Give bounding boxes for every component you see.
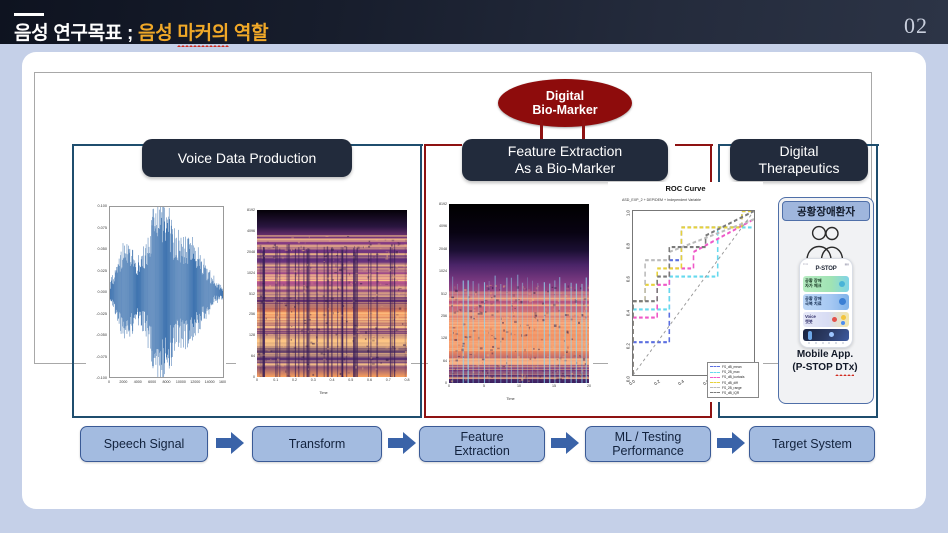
- spectrogram2-y-axis-tick: 2048: [439, 247, 447, 251]
- spectrogram2-y-axis-tick: 1024: [439, 269, 447, 273]
- group-feature-top-left: [424, 144, 462, 147]
- roc-legend-swatch: [710, 387, 720, 388]
- waveform-y-tick: -0.050: [96, 333, 107, 337]
- spectrogram2-x-axis-tick: 20: [587, 384, 591, 388]
- roc-legend-swatch: [710, 377, 720, 378]
- spectrogram1-x-axis-tick: 0.6: [367, 378, 372, 382]
- page-number: 02: [904, 13, 928, 39]
- roc-legend-label: FS_dB_mean: [722, 365, 742, 369]
- spectrogram1-y-axis-tick: 128: [249, 333, 255, 337]
- spectrogram1-y-axis-tick: 0: [253, 375, 255, 379]
- waveform-y-tick: 0.025: [97, 269, 107, 273]
- dtx-panel-title: 공황장애환자: [782, 201, 870, 221]
- roc-legend-label: FS_2B_range: [722, 386, 742, 390]
- label-digital-therapeutics: Digital Therapeutics: [730, 139, 868, 181]
- spectrogram1-x-axis-tick: 0.5: [348, 378, 353, 382]
- phone-home-indicator: [808, 342, 844, 344]
- waveform-x-tick: 14000: [205, 380, 215, 384]
- phone-card3-text: Voice 챗봇: [805, 314, 816, 325]
- label-feature-line-1: Feature Extraction: [508, 143, 622, 159]
- roc-legend: FS_dB_meanFS_2B_maxFS_dB_kurtosisFS_dB_d…: [707, 362, 759, 398]
- roc-legend-label: FS_dB_IQR: [722, 391, 739, 395]
- roc-y-tick: 0.6: [626, 276, 631, 282]
- flow-step-5-line1: Target System: [772, 437, 852, 451]
- spectrogram1-image: [257, 210, 407, 377]
- spectrogram2-y-axis-tick: 64: [443, 359, 447, 363]
- figure-roc-curve: ROC Curve ASD_EXP_2 + DEP/DEM + Independ…: [608, 182, 763, 402]
- spectrogram2-y-axis-tick: 4096: [439, 224, 447, 228]
- page-title-main: 음성 연구목표 ;: [14, 23, 138, 44]
- dtx-caption-line-2c: ): [854, 362, 857, 373]
- waveform-y-tick: 0.050: [97, 247, 107, 251]
- roc-x-tick: 0.0: [628, 379, 636, 387]
- phone-mockup: 9:41 ▮▮▮ P-STOP 공황 장애 자가 체크 공황 장애 극복 치료 …: [799, 258, 853, 348]
- roc-y-tick: 0.8: [626, 243, 631, 249]
- roc-y-tick: 0.2: [626, 343, 631, 349]
- flow-arrow-3-icon: [551, 431, 579, 455]
- waveform-x-tick: 12000: [190, 380, 200, 384]
- spectrogram1-y-axis-tick: 4096: [247, 229, 255, 233]
- roc-legend-label: FS_2B_max: [722, 370, 740, 374]
- roc-legend-label: FS_dB_kurtosis: [722, 375, 745, 379]
- spectrogram2-svg: [449, 204, 589, 383]
- spectrogram1-x-axis-tick: 0.4: [330, 378, 335, 382]
- phone-card3-dot-red: [832, 317, 837, 322]
- waveform-y-tick: -0.100: [96, 376, 107, 380]
- phone-card4-figure: [808, 331, 812, 340]
- spectrogram2-y-axis-tick: 0: [445, 381, 447, 385]
- label-voice-text: Voice Data Production: [178, 150, 317, 167]
- spectrogram2-x-title: Time: [428, 397, 593, 401]
- label-dtx-line-2: Therapeutics: [759, 160, 840, 176]
- spectrogram1-y-axis-tick: 256: [249, 312, 255, 316]
- phone-card-treatment[interactable]: 공황 장애 극복 치료: [803, 294, 849, 310]
- title-rule: [14, 13, 44, 16]
- waveform-svg: [110, 207, 223, 377]
- figure-waveform: 0.1000.0750.0500.0250.000-0.025-0.050-0.…: [86, 202, 226, 397]
- roc-legend-swatch: [710, 382, 720, 383]
- spectrogram2-x-axis-tick: 0: [448, 384, 450, 388]
- spectrogram2-y-axis-tick: 8192: [439, 202, 447, 206]
- phone-card4-glow: [829, 332, 834, 337]
- spectrogram2-y-axis-tick: 256: [441, 314, 447, 318]
- group-voice-top-left: [72, 144, 146, 147]
- flow-step-ml-testing[interactable]: ML / Testing Performance: [585, 426, 711, 462]
- label-dtx-line-1: Digital: [780, 143, 819, 159]
- spectrogram1-y-axis-tick: 64: [251, 354, 255, 358]
- spectrogram2-x-axis-tick: 10: [517, 384, 521, 388]
- phone-card-night[interactable]: [803, 329, 849, 341]
- spectrogram1-x-axis: 00.10.20.30.40.50.60.70.8: [257, 378, 407, 386]
- spectrogram1-x-axis-tick: 0.7: [386, 378, 391, 382]
- roc-legend-item: FS_dB_IQR: [710, 390, 756, 395]
- patient-couple-icon: [801, 224, 849, 260]
- spectrogram2-x-axis-tick: 15: [552, 384, 556, 388]
- phone-card2-dot: [839, 298, 846, 305]
- spectrogram1-x-title: Time: [236, 391, 411, 395]
- phone-card2-line2: 극복 치료: [805, 301, 822, 306]
- spectrogram1-x-axis-tick: 0.1: [273, 378, 278, 382]
- waveform-y-tick: -0.025: [96, 312, 107, 316]
- badge-line-1: Digital: [546, 89, 584, 103]
- flow-step-target-system[interactable]: Target System: [749, 426, 875, 462]
- roc-legend-swatch: [710, 372, 720, 373]
- waveform-x-axis: 0200040006000800010000120001400016000: [109, 380, 224, 388]
- spectrogram2-x-axis: 05101520: [449, 384, 589, 392]
- waveform-x-tick: 2000: [119, 380, 127, 384]
- roc-legend-swatch: [710, 392, 720, 393]
- roc-svg: [633, 211, 754, 375]
- flow-step-transform[interactable]: Transform: [252, 426, 382, 462]
- phone-card1-dot: [839, 281, 845, 287]
- flow-arrow-4-icon: [717, 431, 745, 455]
- slide-header: 음성 연구목표 ; 음성 마커의 역할 02: [0, 0, 948, 44]
- spectrogram1-x-axis-tick: 0: [256, 378, 258, 382]
- roc-x-tick: 0.2: [653, 379, 661, 387]
- phone-card-voice-chatbot[interactable]: Voice 챗봇: [803, 312, 849, 327]
- flow-step-feature-extraction[interactable]: Feature Extraction: [419, 426, 545, 462]
- page-title: 음성 연구목표 ; 음성 마커의 역할: [14, 18, 268, 45]
- page-title-accent-3: 역할: [229, 23, 268, 44]
- spectrogram2-y-axis-tick: 128: [441, 336, 447, 340]
- roc-legend-label: FS_dB_diff: [722, 381, 738, 385]
- waveform-y-tick: 0.075: [97, 226, 107, 230]
- phone-app-title: P-STOP: [800, 266, 852, 272]
- spectrogram2-image: [449, 204, 589, 383]
- roc-y-tick: 1.0: [626, 210, 631, 216]
- phone-card-self-check[interactable]: 공황 장애 자가 체크: [803, 276, 849, 292]
- slide-root: 음성 연구목표 ; 음성 마커의 역할 02 Digital Bio-Marke…: [0, 0, 948, 533]
- roc-subtitle: ASD_EXP_2 + DEP/DEM + Independent Variab…: [622, 198, 701, 202]
- phone-card1-text: 공황 장애 자가 체크: [805, 278, 822, 289]
- waveform-y-tick: -0.075: [96, 355, 107, 359]
- waveform-x-tick: 16000: [219, 380, 226, 384]
- label-voice-data-production: Voice Data Production: [142, 139, 352, 177]
- phone-card1-line2: 자가 체크: [805, 283, 822, 288]
- waveform-x-tick: 8000: [163, 380, 171, 384]
- roc-plot-area: [632, 210, 755, 376]
- badge-line-2: Bio-Marker: [532, 103, 597, 117]
- figure-spectrogram-2: 8192409620481024512256128640: [428, 196, 593, 403]
- flow-step-3-line1: Feature: [460, 430, 503, 444]
- spectrogram1-svg: [257, 210, 407, 377]
- spectrogram1-x-axis-tick: 0.3: [311, 378, 316, 382]
- page-title-accent-2: 마커의: [177, 18, 229, 45]
- flow-step-speech-signal[interactable]: Speech Signal: [80, 426, 208, 462]
- roc-legend-swatch: [710, 366, 720, 367]
- phone-card2-line1: 공황 장애: [805, 296, 822, 301]
- roc-y-axis: 0.00.20.40.60.81.0: [608, 210, 630, 376]
- flow-step-4-line2: Performance: [612, 444, 684, 458]
- label-feature-extraction: Feature Extraction As a Bio-Marker: [462, 139, 668, 181]
- phone-card2-text: 공황 장애 극복 치료: [805, 296, 822, 307]
- waveform-y-axis: 0.1000.0750.0500.0250.000-0.025-0.050-0.…: [86, 206, 108, 378]
- waveform-x-tick: 0: [108, 380, 110, 384]
- spectrogram1-y-axis-tick: 1024: [247, 271, 255, 275]
- phone-card1-line1: 공황 장애: [805, 278, 822, 283]
- roc-title: ROC Curve: [608, 184, 763, 193]
- flow-step-4-line1: ML / Testing: [615, 430, 682, 444]
- waveform-plot-area: [109, 206, 224, 378]
- dtx-caption-line-1: Mobile App.: [797, 349, 853, 360]
- flow-step-2-line1: Transform: [289, 437, 346, 451]
- spectrogram2-y-axis-tick: 512: [441, 292, 447, 296]
- group-feature-top-right: [675, 144, 713, 147]
- flow-step-3-line2: Extraction: [454, 444, 510, 458]
- spectrogram1-x-axis-tick: 0.2: [292, 378, 297, 382]
- spectrogram1-y-axis-tick: 8192: [247, 208, 255, 212]
- label-feature-line-2: As a Bio-Marker: [515, 160, 615, 176]
- flow-arrow-2-icon: [388, 431, 416, 455]
- waveform-x-tick: 10000: [176, 380, 186, 384]
- page-title-accent-1: 음성: [138, 23, 177, 44]
- waveform-y-tick: 0.000: [97, 290, 107, 294]
- waveform-x-tick: 6000: [148, 380, 156, 384]
- flow-step-1-line1: Speech Signal: [104, 437, 185, 451]
- spectrogram1-y-axis-tick: 512: [249, 292, 255, 296]
- spectrogram2-x-axis-tick: 5: [483, 384, 485, 388]
- group-voice-top-right: [349, 144, 423, 147]
- spectrogram1-x-axis-tick: 0.8: [405, 378, 410, 382]
- dtx-caption-line-2a: (P-STOP: [792, 362, 835, 373]
- phone-card3-dot-yellow: [841, 315, 846, 320]
- spectrogram2-y-axis: 8192409620481024512256128640: [428, 204, 448, 383]
- roc-y-tick: 0.4: [626, 310, 631, 316]
- roc-x-tick: 0.4: [677, 379, 685, 387]
- figure-spectrogram-1: 8192409620481024512256128640: [236, 202, 411, 397]
- phone-card3-line1: Voice: [805, 314, 816, 319]
- phone-card3-dot-blue: [841, 321, 845, 325]
- flow-arrow-1-icon: [216, 431, 244, 455]
- dtx-caption-line-2b: DTx: [835, 362, 854, 375]
- phone-card3-line2: 챗봇: [805, 319, 813, 324]
- spectrogram1-y-axis-tick: 2048: [247, 250, 255, 254]
- digital-bio-marker-badge: Digital Bio-Marker: [498, 79, 632, 127]
- waveform-x-tick: 4000: [134, 380, 142, 384]
- waveform-y-tick: 0.100: [97, 204, 107, 208]
- dtx-caption: Mobile App. (P-STOP DTx): [778, 349, 872, 374]
- spectrogram1-y-axis: 8192409620481024512256128640: [236, 210, 256, 377]
